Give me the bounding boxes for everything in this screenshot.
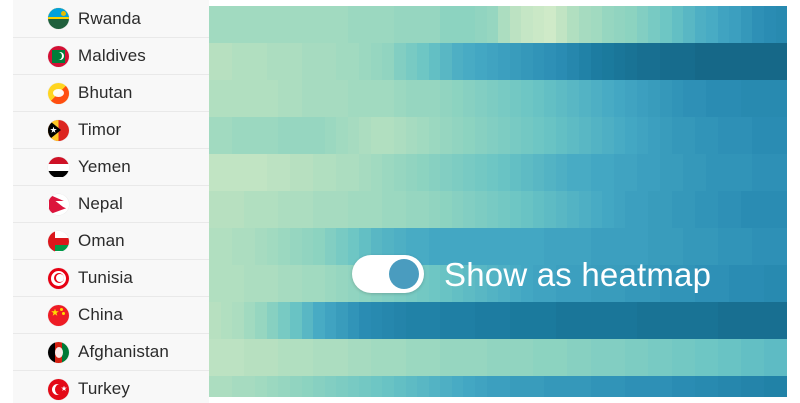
heatmap-cell[interactable] xyxy=(382,191,394,228)
heatmap-cell[interactable] xyxy=(648,339,660,376)
heatmap-cell[interactable] xyxy=(683,376,695,397)
heatmap-cell[interactable] xyxy=(325,117,337,154)
heatmap-cell[interactable] xyxy=(394,6,406,43)
heatmap-cell[interactable] xyxy=(544,117,556,154)
heatmap-cell[interactable] xyxy=(556,154,568,191)
heatmap-cell[interactable] xyxy=(452,117,464,154)
heatmap-cell[interactable] xyxy=(417,376,429,397)
heatmap-cell[interactable] xyxy=(406,117,418,154)
heatmap-cell[interactable] xyxy=(752,302,764,339)
heatmap-cell[interactable] xyxy=(729,6,741,43)
heatmap-row[interactable] xyxy=(209,80,787,117)
heatmap-cell[interactable] xyxy=(302,191,314,228)
heatmap-cell[interactable] xyxy=(567,302,579,339)
heatmap-cell[interactable] xyxy=(417,191,429,228)
heatmap-cell[interactable] xyxy=(382,80,394,117)
heatmap-cell[interactable] xyxy=(729,339,741,376)
heatmap-cell[interactable] xyxy=(325,6,337,43)
heatmap-cell[interactable] xyxy=(498,154,510,191)
heatmap-cell[interactable] xyxy=(302,6,314,43)
heatmap-cell[interactable] xyxy=(625,80,637,117)
heatmap-cell[interactable] xyxy=(382,6,394,43)
heatmap-cell[interactable] xyxy=(683,43,695,80)
heatmap-cell[interactable] xyxy=(209,228,221,265)
heatmap-cell[interactable] xyxy=(348,6,360,43)
heatmap-cell[interactable] xyxy=(452,43,464,80)
heatmap-cell[interactable] xyxy=(556,376,568,397)
heatmap-cell[interactable] xyxy=(591,191,603,228)
heatmap-cell[interactable] xyxy=(718,191,730,228)
heatmap-cell[interactable] xyxy=(394,376,406,397)
heatmap-cell[interactable] xyxy=(776,191,787,228)
heatmap-cell[interactable] xyxy=(533,6,545,43)
heatmap-cell[interactable] xyxy=(625,117,637,154)
heatmap-cell[interactable] xyxy=(683,154,695,191)
heatmap-cell[interactable] xyxy=(313,339,325,376)
heatmap-cell[interactable] xyxy=(752,339,764,376)
heatmap-cell[interactable] xyxy=(348,80,360,117)
heatmap-cell[interactable] xyxy=(359,80,371,117)
country-row[interactable]: Rwanda xyxy=(13,0,209,37)
heatmap-cell[interactable] xyxy=(463,6,475,43)
heatmap-cell[interactable] xyxy=(255,339,267,376)
heatmap-cell[interactable] xyxy=(221,80,233,117)
heatmap-cell[interactable] xyxy=(290,228,302,265)
heatmap-cell[interactable] xyxy=(278,302,290,339)
heatmap-cell[interactable] xyxy=(498,117,510,154)
heatmap-cell[interactable] xyxy=(290,154,302,191)
heatmap-cell[interactable] xyxy=(417,154,429,191)
heatmap-cell[interactable] xyxy=(417,339,429,376)
heatmap-cell[interactable] xyxy=(741,6,753,43)
heatmap-cell[interactable] xyxy=(475,339,487,376)
heatmap-cell[interactable] xyxy=(648,80,660,117)
heatmap-cell[interactable] xyxy=(313,43,325,80)
heatmap-cell[interactable] xyxy=(544,302,556,339)
heatmap-cell[interactable] xyxy=(371,154,383,191)
heatmap-cell[interactable] xyxy=(429,6,441,43)
heatmap-cell[interactable] xyxy=(302,302,314,339)
heatmap-cell[interactable] xyxy=(614,154,626,191)
heatmap-cell[interactable] xyxy=(406,154,418,191)
heatmap-cell[interactable] xyxy=(267,265,279,302)
heatmap-cell[interactable] xyxy=(232,265,244,302)
heatmap-cell[interactable] xyxy=(290,191,302,228)
heatmap-cell[interactable] xyxy=(348,376,360,397)
heatmap-cell[interactable] xyxy=(336,117,348,154)
heatmap-cell[interactable] xyxy=(278,6,290,43)
heatmap-cell[interactable] xyxy=(533,154,545,191)
heatmap-cell[interactable] xyxy=(764,376,776,397)
heatmap-cell[interactable] xyxy=(278,191,290,228)
heatmap-cell[interactable] xyxy=(695,154,707,191)
heatmap-cell[interactable] xyxy=(313,154,325,191)
heatmap-cell[interactable] xyxy=(394,154,406,191)
heatmap-cell[interactable] xyxy=(776,80,787,117)
heatmap-cell[interactable] xyxy=(209,339,221,376)
heatmap-cell[interactable] xyxy=(487,191,499,228)
heatmap-cell[interactable] xyxy=(244,80,256,117)
heatmap-cell[interactable] xyxy=(417,6,429,43)
heatmap-cell[interactable] xyxy=(487,339,499,376)
heatmap-cell[interactable] xyxy=(776,376,787,397)
heatmap-cell[interactable] xyxy=(209,80,221,117)
heatmap-cell[interactable] xyxy=(348,43,360,80)
heatmap-cell[interactable] xyxy=(440,117,452,154)
heatmap-cell[interactable] xyxy=(579,154,591,191)
country-row[interactable]: Maldives xyxy=(13,37,209,74)
heatmap-cell[interactable] xyxy=(290,6,302,43)
heatmap-cell[interactable] xyxy=(764,80,776,117)
heatmap-cell[interactable] xyxy=(463,376,475,397)
heatmap-cell[interactable] xyxy=(267,117,279,154)
heatmap-cell[interactable] xyxy=(706,191,718,228)
heatmap-cell[interactable] xyxy=(348,117,360,154)
heatmap-cell[interactable] xyxy=(325,80,337,117)
heatmap-cell[interactable] xyxy=(521,191,533,228)
heatmap-cell[interactable] xyxy=(278,339,290,376)
heatmap-cell[interactable] xyxy=(683,191,695,228)
heatmap-cell[interactable] xyxy=(267,80,279,117)
heatmap-cell[interactable] xyxy=(637,302,649,339)
heatmap-cell[interactable] xyxy=(752,191,764,228)
heatmap-cell[interactable] xyxy=(325,302,337,339)
heatmap-cell[interactable] xyxy=(602,6,614,43)
heatmap-cell[interactable] xyxy=(579,191,591,228)
heatmap-cell[interactable] xyxy=(429,117,441,154)
heatmap-cell[interactable] xyxy=(614,376,626,397)
heatmap-cell[interactable] xyxy=(452,302,464,339)
heatmap-cell[interactable] xyxy=(637,154,649,191)
heatmap-cell[interactable] xyxy=(579,43,591,80)
heatmap-cell[interactable] xyxy=(302,228,314,265)
heatmap-cell[interactable] xyxy=(498,80,510,117)
heatmap-cell[interactable] xyxy=(232,117,244,154)
heatmap-cell[interactable] xyxy=(475,191,487,228)
heatmap-row[interactable] xyxy=(209,302,787,339)
heatmap-cell[interactable] xyxy=(533,80,545,117)
heatmap-cell[interactable] xyxy=(359,191,371,228)
heatmap-cell[interactable] xyxy=(498,6,510,43)
heatmap-cell[interactable] xyxy=(313,191,325,228)
heatmap-cell[interactable] xyxy=(255,80,267,117)
heatmap-cell[interactable] xyxy=(232,80,244,117)
heatmap-cell[interactable] xyxy=(729,265,741,302)
heatmap-cell[interactable] xyxy=(406,43,418,80)
heatmap-cell[interactable] xyxy=(579,80,591,117)
heatmap-cell[interactable] xyxy=(302,43,314,80)
heatmap-row[interactable] xyxy=(209,43,787,80)
heatmap-cell[interactable] xyxy=(221,191,233,228)
heatmap-cell[interactable] xyxy=(498,191,510,228)
heatmap-cell[interactable] xyxy=(244,191,256,228)
heatmap-cell[interactable] xyxy=(313,265,325,302)
heatmap-cell[interactable] xyxy=(706,154,718,191)
heatmap-cell[interactable] xyxy=(452,154,464,191)
heatmap-cell[interactable] xyxy=(776,228,787,265)
heatmap-cell[interactable] xyxy=(209,376,221,397)
heatmap-cell[interactable] xyxy=(429,339,441,376)
heatmap-cell[interactable] xyxy=(648,191,660,228)
heatmap-cell[interactable] xyxy=(556,80,568,117)
heatmap-cell[interactable] xyxy=(637,6,649,43)
heatmap-cell[interactable] xyxy=(255,228,267,265)
heatmap-cell[interactable] xyxy=(614,191,626,228)
heatmap-cell[interactable] xyxy=(776,6,787,43)
heatmap-cell[interactable] xyxy=(336,191,348,228)
heatmap-cell[interactable] xyxy=(556,117,568,154)
heatmap-cell[interactable] xyxy=(510,376,522,397)
heatmap-cell[interactable] xyxy=(776,339,787,376)
heatmap-cell[interactable] xyxy=(718,43,730,80)
heatmap-cell[interactable] xyxy=(221,302,233,339)
heatmap-cell[interactable] xyxy=(452,191,464,228)
heatmap-cell[interactable] xyxy=(278,117,290,154)
heatmap-cell[interactable] xyxy=(521,154,533,191)
heatmap-cell[interactable] xyxy=(556,339,568,376)
heatmap-cell[interactable] xyxy=(752,6,764,43)
heatmap-cell[interactable] xyxy=(602,43,614,80)
heatmap-cell[interactable] xyxy=(706,80,718,117)
heatmap-cell[interactable] xyxy=(232,191,244,228)
heatmap-cell[interactable] xyxy=(764,117,776,154)
heatmap-cell[interactable] xyxy=(672,6,684,43)
heatmap-cell[interactable] xyxy=(510,6,522,43)
heatmap-cell[interactable] xyxy=(278,154,290,191)
heatmap-cell[interactable] xyxy=(221,154,233,191)
heatmap-cell[interactable] xyxy=(232,43,244,80)
heatmap-cell[interactable] xyxy=(533,339,545,376)
heatmap-cell[interactable] xyxy=(371,302,383,339)
country-row[interactable]: Nepal xyxy=(13,185,209,222)
country-row[interactable]: Turkey xyxy=(13,370,209,403)
heatmap-cell[interactable] xyxy=(741,191,753,228)
heatmap-cell[interactable] xyxy=(625,302,637,339)
heatmap-cell[interactable] xyxy=(406,80,418,117)
heatmap-cell[interactable] xyxy=(741,302,753,339)
heatmap-cell[interactable] xyxy=(336,376,348,397)
heatmap-cell[interactable] xyxy=(706,339,718,376)
heatmap-cell[interactable] xyxy=(336,43,348,80)
heatmap-cell[interactable] xyxy=(533,117,545,154)
heatmap-cell[interactable] xyxy=(429,154,441,191)
heatmap-cell[interactable] xyxy=(729,80,741,117)
heatmap-row[interactable] xyxy=(209,6,787,43)
heatmap-cell[interactable] xyxy=(302,339,314,376)
heatmap-cell[interactable] xyxy=(359,302,371,339)
heatmap-cell[interactable] xyxy=(359,6,371,43)
heatmap-cell[interactable] xyxy=(521,376,533,397)
heatmap-cell[interactable] xyxy=(648,154,660,191)
heatmap-cell[interactable] xyxy=(336,265,348,302)
heatmap-cell[interactable] xyxy=(556,43,568,80)
heatmap-cell[interactable] xyxy=(267,302,279,339)
heatmap-cell[interactable] xyxy=(718,376,730,397)
heatmap-cell[interactable] xyxy=(290,265,302,302)
heatmap-cell[interactable] xyxy=(672,117,684,154)
country-row[interactable]: Tunisia xyxy=(13,259,209,296)
heatmap-cell[interactable] xyxy=(741,43,753,80)
heatmap-cell[interactable] xyxy=(325,191,337,228)
heatmap-cell[interactable] xyxy=(706,302,718,339)
heatmap-cell[interactable] xyxy=(302,80,314,117)
heatmap-cell[interactable] xyxy=(302,154,314,191)
heatmap-cell[interactable] xyxy=(706,117,718,154)
heatmap-cell[interactable] xyxy=(729,43,741,80)
heatmap-cell[interactable] xyxy=(475,117,487,154)
heatmap-cell[interactable] xyxy=(244,376,256,397)
heatmap-cell[interactable] xyxy=(752,43,764,80)
heatmap-cell[interactable] xyxy=(463,117,475,154)
heatmap-cell[interactable] xyxy=(579,339,591,376)
heatmap-cell[interactable] xyxy=(255,265,267,302)
heatmap-cell[interactable] xyxy=(244,154,256,191)
heatmap-cell[interactable] xyxy=(776,43,787,80)
heatmap-cell[interactable] xyxy=(764,302,776,339)
heatmap-cell[interactable] xyxy=(232,154,244,191)
heatmap-cell[interactable] xyxy=(440,302,452,339)
heatmap-cell[interactable] xyxy=(371,80,383,117)
heatmap-cell[interactable] xyxy=(614,339,626,376)
heatmap-cell[interactable] xyxy=(764,6,776,43)
heatmap-cell[interactable] xyxy=(729,154,741,191)
heatmap-cell[interactable] xyxy=(579,376,591,397)
heatmap-cell[interactable] xyxy=(406,302,418,339)
heatmap-cell[interactable] xyxy=(544,376,556,397)
heatmap-cell[interactable] xyxy=(336,302,348,339)
heatmap-cell[interactable] xyxy=(625,154,637,191)
heatmap-cell[interactable] xyxy=(313,376,325,397)
heatmap-cell[interactable] xyxy=(429,191,441,228)
heatmap-cell[interactable] xyxy=(741,339,753,376)
heatmap-cell[interactable] xyxy=(776,265,787,302)
heatmap-cell[interactable] xyxy=(521,302,533,339)
heatmap-cell[interactable] xyxy=(232,6,244,43)
heatmap-cell[interactable] xyxy=(648,302,660,339)
heatmap-cell[interactable] xyxy=(683,117,695,154)
heatmap-cell[interactable] xyxy=(348,302,360,339)
heatmap-cell[interactable] xyxy=(637,43,649,80)
heatmap-cell[interactable] xyxy=(255,6,267,43)
heatmap-cell[interactable] xyxy=(706,376,718,397)
heatmap-cell[interactable] xyxy=(394,43,406,80)
heatmap-cell[interactable] xyxy=(764,43,776,80)
heatmap-cell[interactable] xyxy=(302,265,314,302)
heatmap-cell[interactable] xyxy=(440,339,452,376)
heatmap-cell[interactable] xyxy=(729,302,741,339)
heatmap-cell[interactable] xyxy=(672,80,684,117)
heatmap-cell[interactable] xyxy=(382,302,394,339)
heatmap-cell[interactable] xyxy=(625,376,637,397)
heatmap-cell[interactable] xyxy=(683,339,695,376)
heatmap-cell[interactable] xyxy=(336,154,348,191)
heatmap-cell[interactable] xyxy=(290,376,302,397)
heatmap-cell[interactable] xyxy=(267,228,279,265)
heatmap-cell[interactable] xyxy=(567,191,579,228)
heatmap-cell[interactable] xyxy=(244,43,256,80)
heatmap-cell[interactable] xyxy=(221,117,233,154)
heatmap-row[interactable] xyxy=(209,117,787,154)
heatmap-cell[interactable] xyxy=(683,302,695,339)
heatmap-cell[interactable] xyxy=(602,302,614,339)
heatmap-cell[interactable] xyxy=(244,265,256,302)
heatmap-cell[interactable] xyxy=(406,376,418,397)
heatmap-cell[interactable] xyxy=(232,228,244,265)
heatmap-cell[interactable] xyxy=(475,376,487,397)
heatmap-cell[interactable] xyxy=(521,117,533,154)
heatmap-cell[interactable] xyxy=(325,265,337,302)
heatmap-cell[interactable] xyxy=(290,80,302,117)
heatmap-cell[interactable] xyxy=(382,117,394,154)
heatmap-cell[interactable] xyxy=(729,376,741,397)
heatmap-cell[interactable] xyxy=(591,43,603,80)
heatmap-cell[interactable] xyxy=(371,339,383,376)
heatmap-cell[interactable] xyxy=(463,302,475,339)
heatmap-cell[interactable] xyxy=(683,80,695,117)
heatmap-cell[interactable] xyxy=(232,302,244,339)
heatmap-cell[interactable] xyxy=(591,80,603,117)
heatmap-cell[interactable] xyxy=(209,191,221,228)
heatmap-cell[interactable] xyxy=(637,80,649,117)
heatmap-cell[interactable] xyxy=(637,191,649,228)
heatmap-cell[interactable] xyxy=(325,228,337,265)
heatmap-cell[interactable] xyxy=(359,154,371,191)
heatmap-cell[interactable] xyxy=(591,6,603,43)
heatmap-cell[interactable] xyxy=(672,43,684,80)
heatmap-cell[interactable] xyxy=(313,80,325,117)
heatmap-cell[interactable] xyxy=(660,117,672,154)
heatmap-cell[interactable] xyxy=(695,80,707,117)
heatmap-cell[interactable] xyxy=(544,80,556,117)
heatmap-cell[interactable] xyxy=(336,339,348,376)
heatmap-cell[interactable] xyxy=(290,339,302,376)
heatmap-cell[interactable] xyxy=(706,43,718,80)
heatmap-cell[interactable] xyxy=(255,117,267,154)
heatmap-cell[interactable] xyxy=(752,265,764,302)
heatmap-cell[interactable] xyxy=(533,43,545,80)
heatmap-cell[interactable] xyxy=(602,117,614,154)
heatmap-cell[interactable] xyxy=(729,191,741,228)
heatmap-cell[interactable] xyxy=(267,376,279,397)
heatmap-cell[interactable] xyxy=(521,6,533,43)
heatmap-cell[interactable] xyxy=(752,80,764,117)
heatmap-cell[interactable] xyxy=(591,302,603,339)
heatmap-cell[interactable] xyxy=(533,376,545,397)
heatmap-cell[interactable] xyxy=(255,191,267,228)
heatmap-cell[interactable] xyxy=(313,6,325,43)
heatmap-cell[interactable] xyxy=(544,43,556,80)
heatmap-cell[interactable] xyxy=(625,6,637,43)
heatmap-cell[interactable] xyxy=(313,228,325,265)
heatmap-cell[interactable] xyxy=(382,339,394,376)
heatmap-cell[interactable] xyxy=(394,302,406,339)
heatmap-cell[interactable] xyxy=(614,80,626,117)
heatmap-cell[interactable] xyxy=(718,154,730,191)
heatmap-cell[interactable] xyxy=(382,376,394,397)
heatmap-cell[interactable] xyxy=(579,117,591,154)
heatmap-cell[interactable] xyxy=(452,80,464,117)
heatmap-cell[interactable] xyxy=(440,191,452,228)
heatmap-cell[interactable] xyxy=(406,6,418,43)
heatmap-cell[interactable] xyxy=(718,302,730,339)
heatmap-cell[interactable] xyxy=(359,376,371,397)
heatmap-cell[interactable] xyxy=(648,117,660,154)
heatmap-cell[interactable] xyxy=(567,80,579,117)
heatmap-cell[interactable] xyxy=(255,154,267,191)
heatmap-cell[interactable] xyxy=(267,6,279,43)
heatmap-cell[interactable] xyxy=(579,302,591,339)
heatmap-cell[interactable] xyxy=(602,339,614,376)
